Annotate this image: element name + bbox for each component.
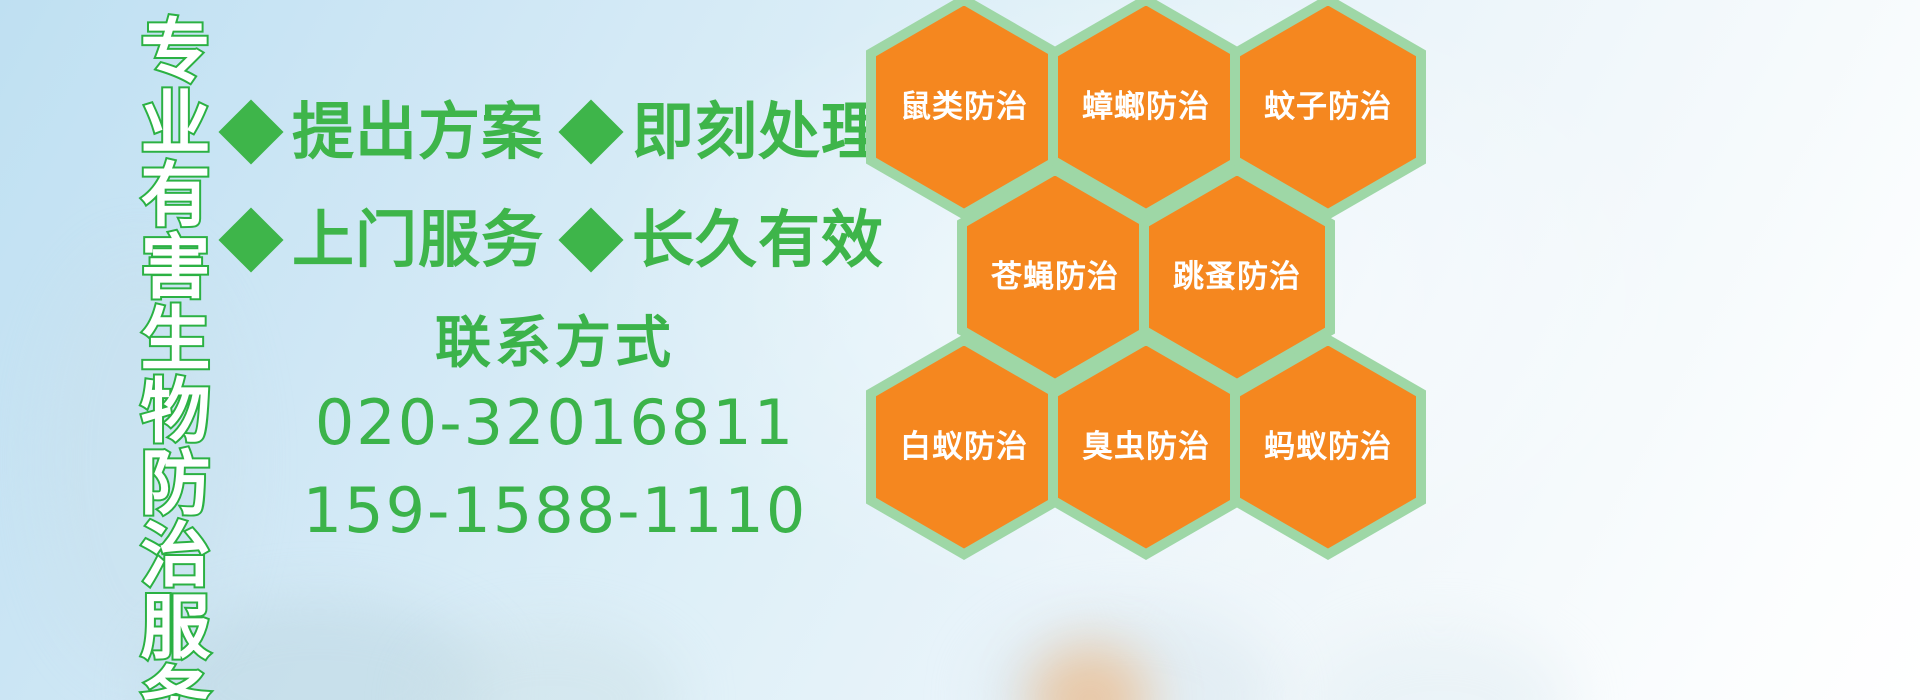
- feature-row: 上门服务 长久有效: [228, 186, 878, 294]
- vertical-headline: 专业有害生物防治服务: [112, 14, 204, 686]
- contact-block: 联系方式 020-32016811 159-1588-1110: [255, 312, 855, 552]
- diamond-bullet-icon: [218, 99, 283, 164]
- diamond-bullet-icon: [558, 99, 623, 164]
- service-label: 鼠类防治: [900, 92, 1028, 123]
- service-label: 苍蝇防治: [991, 262, 1119, 293]
- feature-label: 提出方案: [292, 101, 544, 163]
- contact-heading: 联系方式: [255, 312, 855, 376]
- feature-list: 提出方案 即刻处理 上门服务 长久有效: [228, 78, 878, 294]
- diamond-bullet-icon: [218, 207, 283, 272]
- service-label: 蟑螂防治: [1082, 92, 1210, 123]
- feature-label: 即刻处理: [632, 101, 884, 163]
- feature-item: 长久有效: [568, 209, 884, 271]
- service-label: 蚊子防治: [1264, 92, 1392, 123]
- diamond-bullet-icon: [558, 207, 623, 272]
- feature-item: 即刻处理: [568, 101, 884, 163]
- background-bokeh-blob: [1310, 630, 1570, 700]
- service-label: 臭虫防治: [1082, 432, 1210, 463]
- hexagon-inner: 跳蚤防治: [1149, 176, 1325, 379]
- service-label: 蚂蚁防治: [1264, 432, 1392, 463]
- contact-phone-mobile[interactable]: 159-1588-1110: [255, 470, 855, 552]
- background-bokeh-blob: [980, 610, 1280, 700]
- feature-item: 上门服务: [228, 209, 544, 271]
- feature-label: 长久有效: [632, 209, 884, 271]
- hexagon-inner: 白蚁防治: [876, 346, 1052, 549]
- hexagon-inner: 蚊子防治: [1240, 6, 1416, 209]
- contact-phone-landline[interactable]: 020-32016811: [255, 382, 855, 464]
- feature-item: 提出方案: [228, 101, 544, 163]
- hexagon-inner: 蚂蚁防治: [1240, 346, 1416, 549]
- hexagon-inner: 鼠类防治: [876, 6, 1052, 209]
- hexagon-inner: 臭虫防治: [1058, 346, 1234, 549]
- feature-row: 提出方案 即刻处理: [228, 78, 878, 186]
- background-bokeh-blob-orange: [1030, 645, 1150, 700]
- background-bokeh-blob: [420, 625, 680, 700]
- hexagon-inner: 苍蝇防治: [967, 176, 1143, 379]
- pest-control-banner: 专业有害生物防治服务 提出方案 即刻处理 上门服务 长久有效 联系方式 0: [0, 0, 1920, 700]
- feature-label: 上门服务: [292, 209, 544, 271]
- service-honeycomb: 鼠类防治 蟑螂防治 蚊子防治 苍蝇防治 跳蚤防治 白蚁防治: [860, 0, 1480, 586]
- service-label: 白蚁防治: [900, 432, 1028, 463]
- service-label: 跳蚤防治: [1173, 262, 1301, 293]
- hexagon-inner: 蟑螂防治: [1058, 6, 1234, 209]
